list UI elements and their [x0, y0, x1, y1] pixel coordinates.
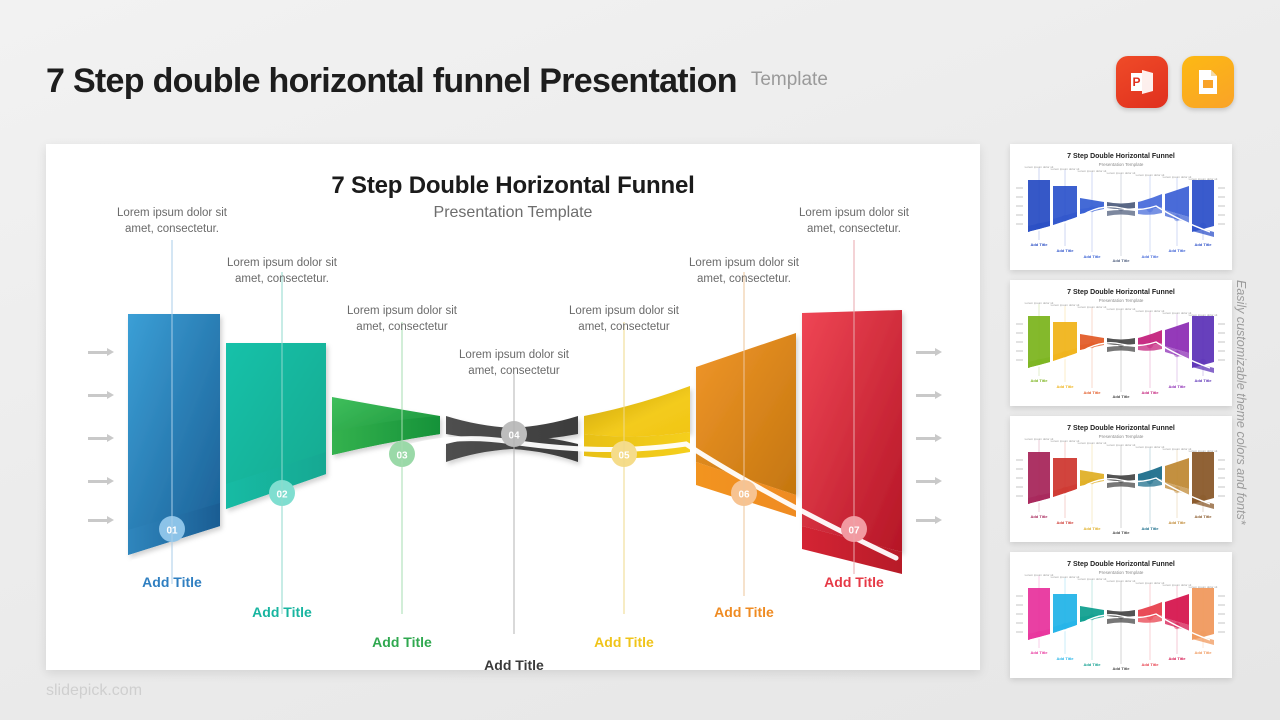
callout-line-2: amet, consectetur.: [235, 273, 329, 285]
step-title-06[interactable]: Add Title: [684, 604, 804, 620]
svg-text:Add Title: Add Title: [1083, 390, 1101, 395]
callout-line-2: amet, consectetur: [468, 365, 559, 377]
svg-text:Lorem ipsum dolor sit: Lorem ipsum dolor sit: [1051, 439, 1080, 443]
flow-arrow-left: [88, 516, 114, 525]
thumbnail-subtitle: Presentation Template: [1010, 162, 1232, 167]
step-title-07[interactable]: Add Title: [794, 574, 914, 590]
main-slide-preview[interactable]: 7 Step Double Horizontal Funnel Presenta…: [46, 144, 980, 670]
svg-text:Lorem ipsum dolor sit: Lorem ipsum dolor sit: [1189, 449, 1218, 453]
page-header: 7 Step double horizontal funnel Presenta…: [46, 52, 1240, 110]
callout-03: Lorem ipsum dolor sit amet, consectetur: [322, 304, 482, 335]
svg-text:Add Title: Add Title: [1112, 258, 1130, 263]
thumbnail-vivid[interactable]: Add TitleLorem ipsum dolor sitAdd TitleL…: [1010, 552, 1232, 678]
flow-arrow-right: [916, 516, 942, 525]
svg-text:Lorem ipsum dolor sit: Lorem ipsum dolor sit: [1107, 579, 1136, 583]
svg-text:Lorem ipsum dolor sit: Lorem ipsum dolor sit: [1189, 177, 1218, 181]
svg-text:Add Title: Add Title: [1112, 666, 1130, 671]
svg-text:Add Title: Add Title: [1056, 520, 1074, 525]
callout-line-2: amet, consectetur: [578, 321, 669, 333]
callout-05: Lorem ipsum dolor sit amet, consectetur: [544, 304, 704, 335]
svg-text:Lorem ipsum dolor sit: Lorem ipsum dolor sit: [1136, 173, 1165, 177]
svg-text:Add Title: Add Title: [1194, 242, 1212, 247]
step-title-01[interactable]: Add Title: [112, 574, 232, 590]
svg-text:Add Title: Add Title: [1141, 390, 1159, 395]
site-brand: slidepick.com: [46, 682, 142, 700]
flow-arrow-left: [88, 477, 114, 486]
svg-text:Add Title: Add Title: [1194, 514, 1212, 519]
callout-01: Lorem ipsum dolor sit amet, consectetur.: [92, 206, 252, 237]
thumbnail-title: 7 Step Double Horizontal Funnel: [1010, 425, 1232, 432]
svg-text:Lorem ipsum dolor sit: Lorem ipsum dolor sit: [1051, 167, 1080, 171]
svg-text:Lorem ipsum dolor sit: Lorem ipsum dolor sit: [1107, 443, 1136, 447]
step-title-02[interactable]: Add Title: [222, 604, 342, 620]
svg-text:Add Title: Add Title: [1168, 384, 1186, 389]
thumbnail-rainbow[interactable]: Add TitleLorem ipsum dolor sitAdd TitleL…: [1010, 280, 1232, 406]
flow-arrow-right: [916, 348, 942, 357]
svg-text:Add Title: Add Title: [1168, 656, 1186, 661]
callout-line-1: Lorem ipsum dolor sit: [347, 305, 457, 317]
svg-text:Lorem ipsum dolor sit: Lorem ipsum dolor sit: [1078, 305, 1107, 309]
callout-line-1: Lorem ipsum dolor sit: [459, 349, 569, 361]
svg-text:Add Title: Add Title: [1141, 254, 1159, 259]
format-icons: P: [1116, 56, 1234, 108]
svg-text:Lorem ipsum dolor sit: Lorem ipsum dolor sit: [1051, 303, 1080, 307]
step-title-04[interactable]: Add Title: [454, 657, 574, 673]
svg-text:Lorem ipsum dolor sit: Lorem ipsum dolor sit: [1107, 171, 1136, 175]
thumbnail-earth[interactable]: Add TitleLorem ipsum dolor sitAdd TitleL…: [1010, 416, 1232, 542]
svg-text:Add Title: Add Title: [1056, 656, 1074, 661]
callout-line-1: Lorem ipsum dolor sit: [569, 305, 679, 317]
svg-text:Add Title: Add Title: [1030, 378, 1048, 383]
flow-arrow-right: [916, 391, 942, 400]
svg-text:Add Title: Add Title: [1194, 378, 1212, 383]
svg-text:Add Title: Add Title: [1030, 242, 1048, 247]
svg-text:Lorem ipsum dolor sit: Lorem ipsum dolor sit: [1136, 445, 1165, 449]
svg-text:Add Title: Add Title: [1056, 248, 1074, 253]
thumbnail-subtitle: Presentation Template: [1010, 434, 1232, 439]
svg-text:Add Title: Add Title: [1194, 650, 1212, 655]
callout-07: Lorem ipsum dolor sit amet, consectetur.: [774, 206, 934, 237]
thumbnail-title: 7 Step Double Horizontal Funnel: [1010, 289, 1232, 296]
flow-arrow-right: [916, 434, 942, 443]
callout-line-1: Lorem ipsum dolor sit: [799, 207, 909, 219]
thumbnail-title: 7 Step Double Horizontal Funnel: [1010, 153, 1232, 160]
google-slides-glyph: [1193, 67, 1223, 97]
svg-text:Lorem ipsum dolor sit: Lorem ipsum dolor sit: [1163, 447, 1192, 451]
step-title-05[interactable]: Add Title: [564, 634, 684, 650]
thumbnail-title: 7 Step Double Horizontal Funnel: [1010, 561, 1232, 568]
callout-line-1: Lorem ipsum dolor sit: [117, 207, 227, 219]
svg-text:Add Title: Add Title: [1056, 384, 1074, 389]
svg-text:Lorem ipsum dolor sit: Lorem ipsum dolor sit: [1078, 577, 1107, 581]
flow-arrow-left: [88, 391, 114, 400]
svg-text:P: P: [1132, 75, 1140, 89]
powerpoint-glyph: P: [1127, 67, 1157, 97]
svg-text:Add Title: Add Title: [1168, 520, 1186, 525]
svg-text:Add Title: Add Title: [1168, 248, 1186, 253]
page-subtitle: Template: [751, 69, 828, 93]
flow-arrow-right: [916, 477, 942, 486]
callout-line-1: Lorem ipsum dolor sit: [227, 257, 337, 269]
flow-arrow-left: [88, 434, 114, 443]
svg-text:Add Title: Add Title: [1030, 514, 1048, 519]
google-slides-icon[interactable]: [1182, 56, 1234, 108]
page-title: 7 Step double horizontal funnel Presenta…: [46, 62, 737, 101]
svg-text:Add Title: Add Title: [1083, 662, 1101, 667]
side-note: Easily customizable theme colors and fon…: [1234, 280, 1248, 525]
callout-02: Lorem ipsum dolor sit amet, consectetur.: [202, 256, 362, 287]
svg-text:Lorem ipsum dolor sit: Lorem ipsum dolor sit: [1189, 313, 1218, 317]
svg-text:Lorem ipsum dolor sit: Lorem ipsum dolor sit: [1163, 175, 1192, 179]
flow-arrow-left: [88, 348, 114, 357]
svg-text:Lorem ipsum dolor sit: Lorem ipsum dolor sit: [1189, 585, 1218, 589]
svg-text:Lorem ipsum dolor sit: Lorem ipsum dolor sit: [1078, 441, 1107, 445]
svg-text:Lorem ipsum dolor sit: Lorem ipsum dolor sit: [1136, 309, 1165, 313]
svg-text:Add Title: Add Title: [1083, 526, 1101, 531]
svg-text:Lorem ipsum dolor sit: Lorem ipsum dolor sit: [1163, 583, 1192, 587]
callout-06: Lorem ipsum dolor sit amet, consectetur.: [664, 256, 824, 287]
callout-line-1: Lorem ipsum dolor sit: [689, 257, 799, 269]
thumbnail-list: Add TitleLorem ipsum dolor sitAdd TitleL…: [1010, 144, 1232, 688]
powerpoint-icon[interactable]: P: [1116, 56, 1168, 108]
step-title-03[interactable]: Add Title: [342, 634, 462, 650]
svg-text:Add Title: Add Title: [1141, 662, 1159, 667]
svg-text:Add Title: Add Title: [1030, 650, 1048, 655]
svg-text:Lorem ipsum dolor sit: Lorem ipsum dolor sit: [1107, 307, 1136, 311]
svg-text:Add Title: Add Title: [1083, 254, 1101, 259]
callout-line-2: amet, consectetur.: [125, 223, 219, 235]
svg-text:Lorem ipsum dolor sit: Lorem ipsum dolor sit: [1051, 575, 1080, 579]
svg-text:Lorem ipsum dolor sit: Lorem ipsum dolor sit: [1163, 311, 1192, 315]
callout-line-2: amet, consectetur: [356, 321, 447, 333]
callout-04: Lorem ipsum dolor sit amet, consectetur: [434, 348, 594, 379]
callout-line-2: amet, consectetur.: [807, 223, 901, 235]
svg-text:Add Title: Add Title: [1112, 530, 1130, 535]
svg-text:Add Title: Add Title: [1112, 394, 1130, 399]
svg-text:Lorem ipsum dolor sit: Lorem ipsum dolor sit: [1078, 169, 1107, 173]
thumbnail-blue[interactable]: Add TitleLorem ipsum dolor sitAdd TitleL…: [1010, 144, 1232, 270]
svg-text:Add Title: Add Title: [1141, 526, 1159, 531]
svg-text:Lorem ipsum dolor sit: Lorem ipsum dolor sit: [1136, 581, 1165, 585]
thumbnail-subtitle: Presentation Template: [1010, 570, 1232, 575]
callout-line-2: amet, consectetur.: [697, 273, 791, 285]
thumbnail-subtitle: Presentation Template: [1010, 298, 1232, 303]
